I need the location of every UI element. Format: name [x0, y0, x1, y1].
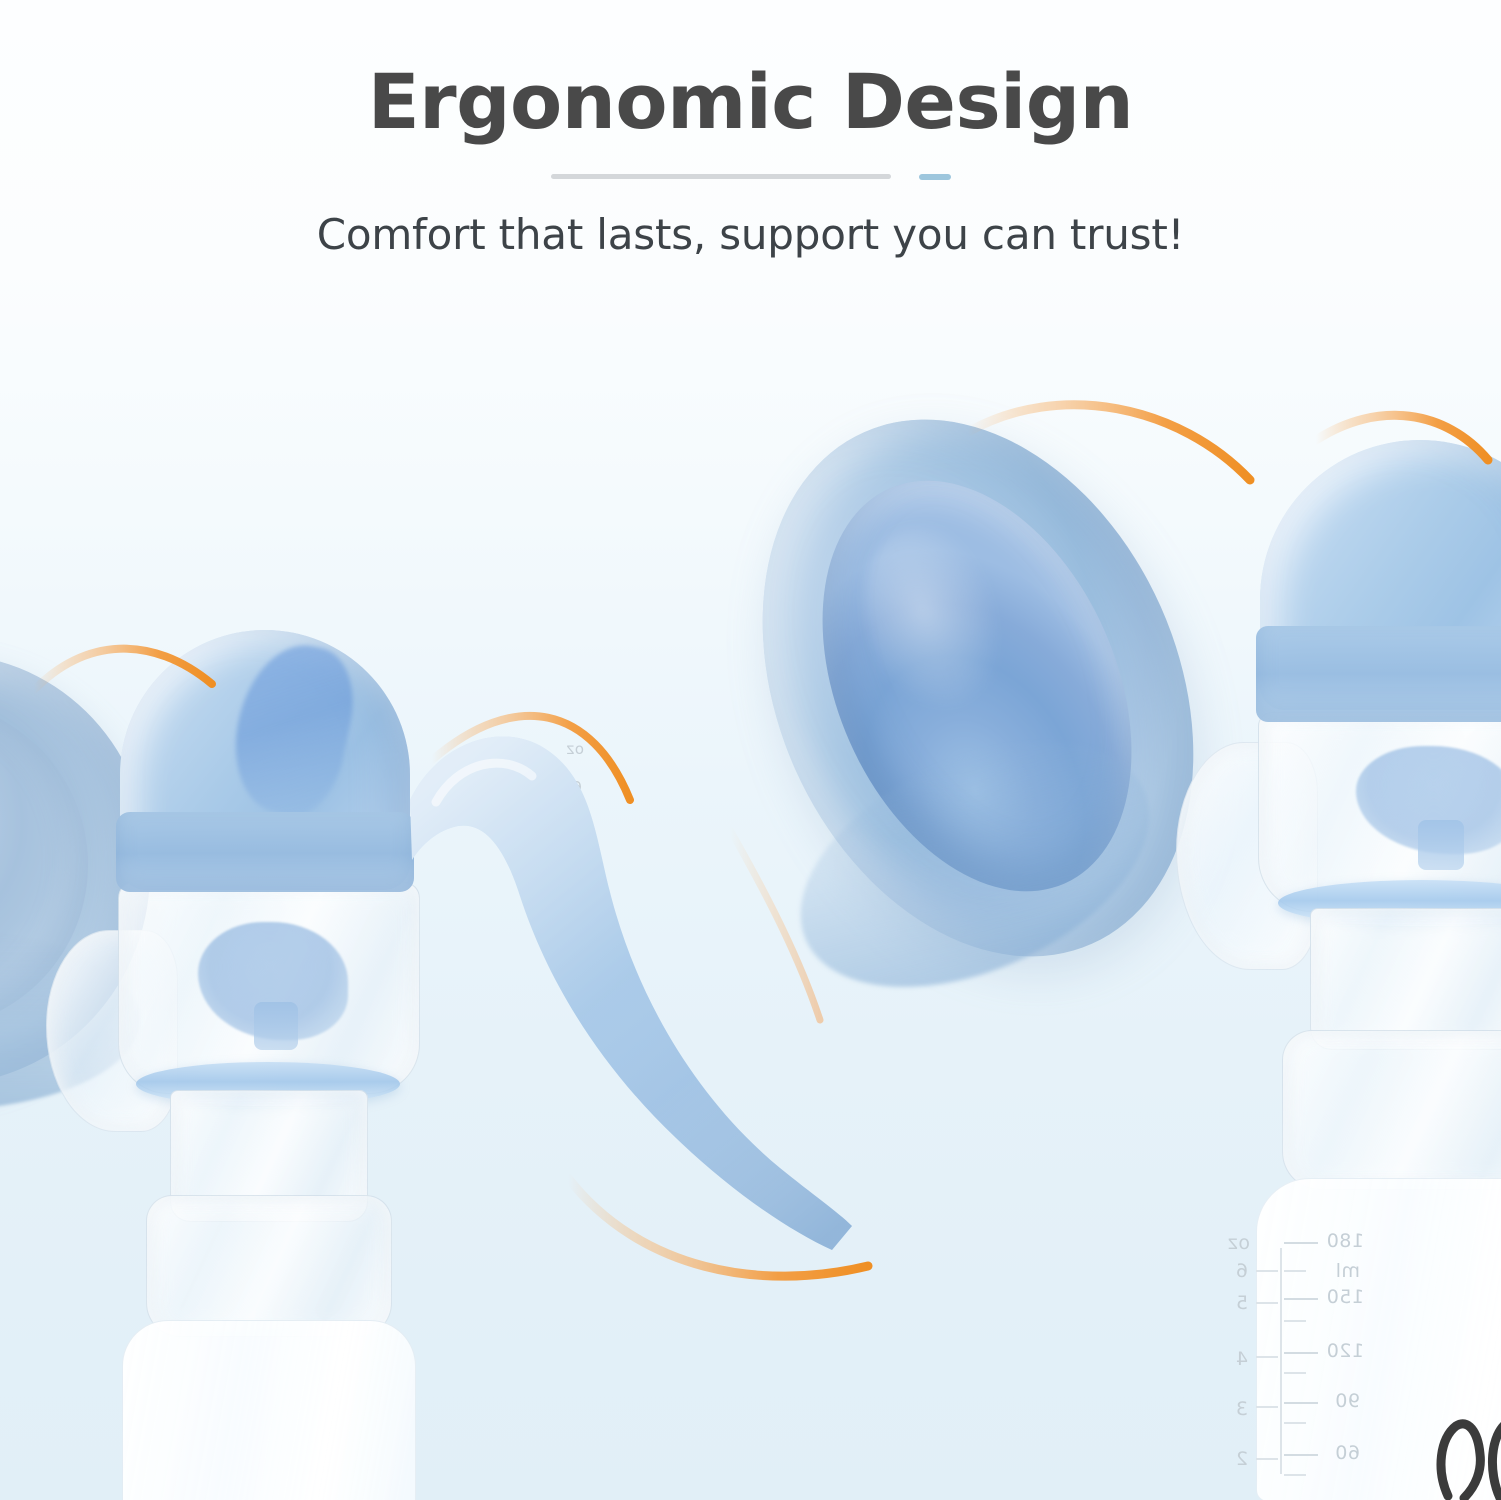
product-scene: oz 180 ml 6 150 5 — [0, 0, 1501, 1500]
scale-tick-right — [1284, 1372, 1306, 1374]
bottle-scale-right: 180 oz ml 6 150 5 120 4 90 3 60 2 — [1188, 1230, 1378, 1490]
scale-tick-right — [1284, 1298, 1318, 1300]
scale-oz-label-right: oz — [1227, 1232, 1250, 1254]
scale-tick-right — [1284, 1454, 1318, 1456]
dome-cap-right-collar — [1256, 626, 1501, 722]
scale-tick-right — [1256, 1270, 1278, 1272]
scale-oz-mark-5-right: 5 — [1235, 1292, 1248, 1314]
scale-tick-right — [1256, 1406, 1278, 1408]
product-marketing-banner: Ergonomic Design Comfort that lasts, sup… — [0, 0, 1501, 1500]
bottle-neck-right — [1310, 908, 1501, 1050]
brand-logo-icon — [1430, 1408, 1501, 1500]
scale-oz-mark-6-right: 6 — [1235, 1260, 1248, 1282]
scale-tick-right — [1284, 1270, 1306, 1272]
ergonomic-handle-svg — [400, 690, 960, 1310]
bottle-collar-right — [1282, 1030, 1501, 1190]
ergonomic-handle — [400, 690, 960, 1310]
scale-ml-mark-90-right: 90 — [1335, 1390, 1360, 1412]
scale-oz-mark-4-right: 4 — [1235, 1348, 1248, 1370]
scale-tick-right — [1284, 1422, 1306, 1424]
scale-tick-right — [1256, 1356, 1278, 1358]
scale-tick-right — [1284, 1242, 1318, 1244]
scale-rail-right — [1280, 1248, 1282, 1474]
scale-tick-right — [1284, 1402, 1318, 1404]
handle-shading — [410, 736, 852, 1250]
pump-stem-right — [1418, 820, 1464, 870]
pump-stem-left — [254, 1002, 298, 1050]
scale-ml-mark-150-right: 150 — [1326, 1286, 1364, 1308]
scale-tick-right — [1256, 1458, 1278, 1460]
dome-cap-left-collar — [116, 812, 414, 892]
scale-oz-mark-3-right: 3 — [1235, 1398, 1248, 1420]
scale-ml-label-right: ml — [1335, 1260, 1360, 1282]
scale-tick-right — [1284, 1474, 1306, 1476]
scale-oz-mark-2-right: 2 — [1235, 1448, 1248, 1470]
scale-ml-mark-60-right: 60 — [1335, 1442, 1360, 1464]
scale-ml-mark-180-right: 180 — [1326, 1230, 1364, 1252]
scale-tick-right — [1284, 1352, 1318, 1354]
bottle-left — [122, 1320, 416, 1500]
scale-tick-right — [1284, 1320, 1306, 1322]
scale-tick-right — [1256, 1302, 1278, 1304]
bottle-collar-left — [146, 1195, 392, 1337]
scale-ml-mark-120-right: 120 — [1326, 1340, 1364, 1362]
